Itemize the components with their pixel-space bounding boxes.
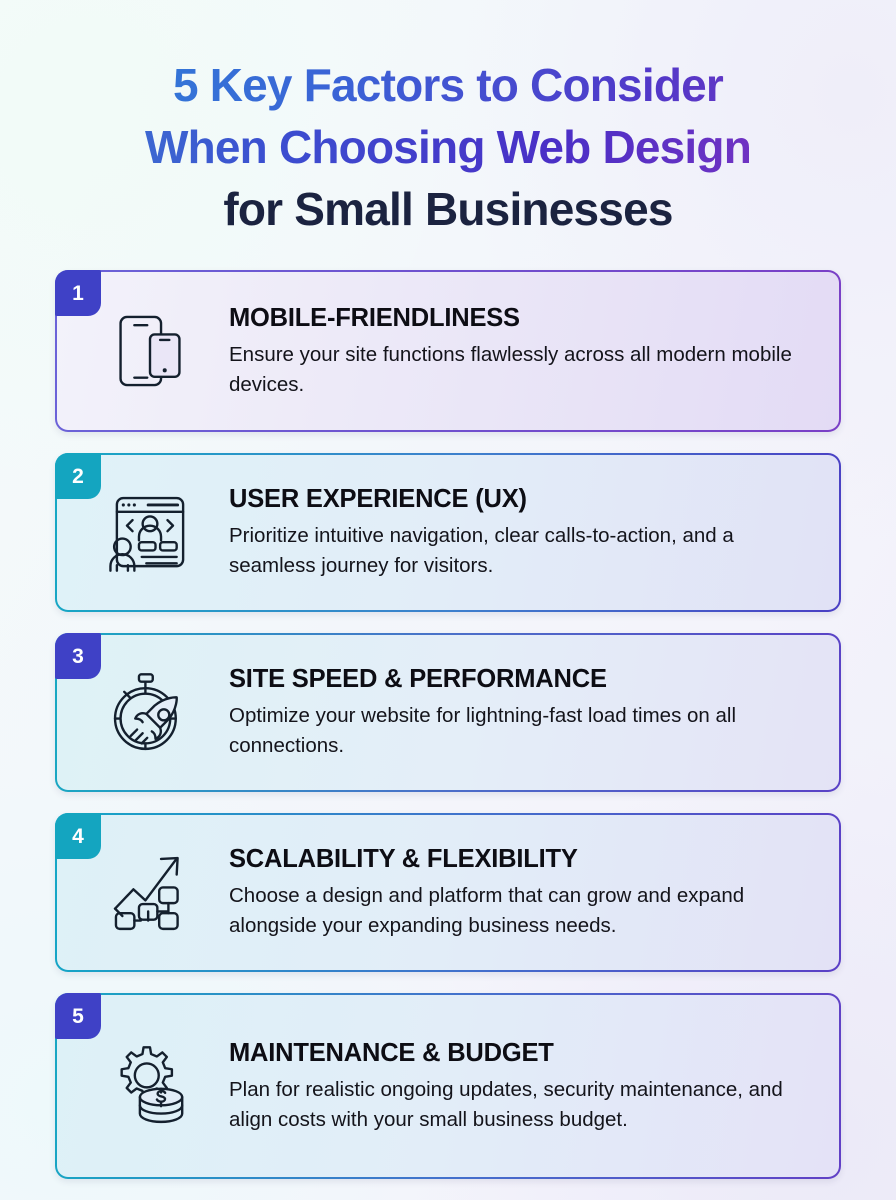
factor-card-1[interactable]: 1 MOBILE-FRIENDLINESS Ensure your site f…: [55, 270, 841, 432]
card-number-badge-4: 4: [55, 813, 101, 859]
card-description-4: Choose a design and platform that can gr…: [229, 881, 813, 940]
user-interface-browser-icon: [57, 487, 229, 579]
card-text-5: MAINTENANCE & BUDGET Plan for realistic …: [229, 1032, 839, 1141]
card-number-badge-1: 1: [55, 270, 101, 316]
card-number-4: 4: [72, 826, 84, 847]
factor-card-3[interactable]: 3: [55, 633, 841, 792]
card-text-4: SCALABILITY & FLEXIBILITY Choose a desig…: [229, 838, 839, 947]
card-description-2: Prioritize intuitive navigation, clear c…: [229, 521, 813, 580]
card-text-2: USER EXPERIENCE (UX) Prioritize intuitiv…: [229, 478, 839, 587]
card-number-1: 1: [72, 283, 84, 304]
growth-arrow-network-icon: [57, 847, 229, 939]
mobile-devices-icon: [57, 305, 229, 397]
factor-card-list: 1 MOBILE-FRIENDLINESS Ensure your site f…: [55, 270, 841, 1200]
card-number-badge-3: 3: [55, 633, 101, 679]
stopwatch-rocket-icon: [57, 667, 229, 759]
card-text-1: MOBILE-FRIENDLINESS Ensure your site fun…: [229, 297, 839, 406]
card-title-4: SCALABILITY & FLEXIBILITY: [229, 844, 813, 874]
factor-card-4[interactable]: 4: [55, 813, 841, 972]
card-title-2: USER EXPERIENCE (UX): [229, 484, 813, 514]
infographic-page: 5 Key Factors to Consider When Choosing …: [0, 0, 896, 1200]
card-number-5: 5: [72, 1006, 84, 1027]
title-line-3: for Small Businesses: [0, 178, 896, 240]
card-number-3: 3: [72, 646, 84, 667]
card-description-3: Optimize your website for lightning-fast…: [229, 701, 813, 760]
gear-coins-icon: [57, 1040, 229, 1132]
card-title-3: SITE SPEED & PERFORMANCE: [229, 664, 813, 694]
factor-card-2[interactable]: 2: [55, 453, 841, 612]
card-title-5: MAINTENANCE & BUDGET: [229, 1038, 813, 1068]
card-text-3: SITE SPEED & PERFORMANCE Optimize your w…: [229, 658, 839, 767]
title-line-2: When Choosing Web Design: [0, 116, 896, 178]
card-title-1: MOBILE-FRIENDLINESS: [229, 303, 813, 333]
card-number-2: 2: [72, 466, 84, 487]
card-description-5: Plan for realistic ongoing updates, secu…: [229, 1075, 813, 1134]
title-line-1: 5 Key Factors to Consider: [0, 54, 896, 116]
card-number-badge-2: 2: [55, 453, 101, 499]
card-number-badge-5: 5: [55, 993, 101, 1039]
card-description-1: Ensure your site functions flawlessly ac…: [229, 340, 813, 399]
factor-card-5[interactable]: 5 MAINTENANCE & BUDGET Plan f: [55, 993, 841, 1179]
page-title: 5 Key Factors to Consider When Choosing …: [0, 54, 896, 240]
